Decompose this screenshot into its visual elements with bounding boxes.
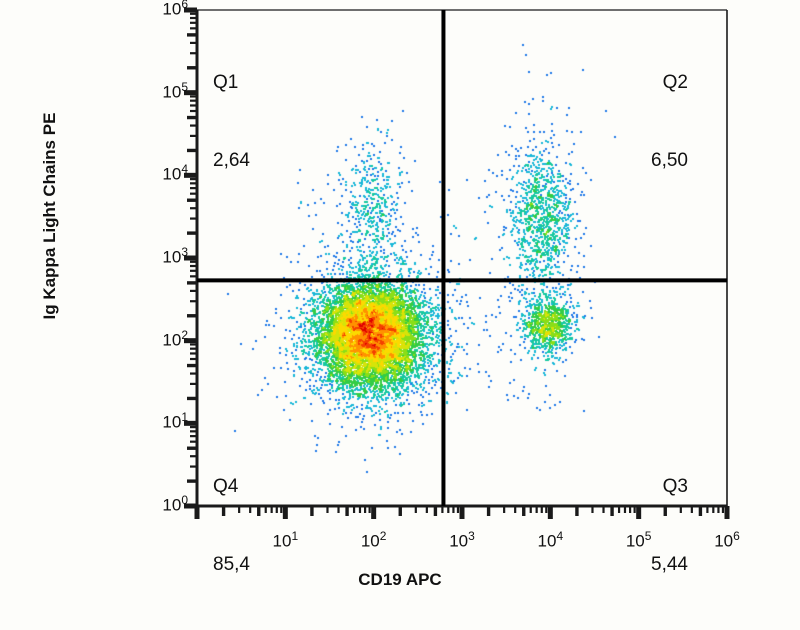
- y-tick-label-10e5: 105: [142, 80, 188, 103]
- quadrant-label-q2: Q2 6,50: [608, 18, 688, 226]
- x-tick-label-10e6: 106: [702, 529, 752, 552]
- y-tick-label-10e1: 101: [142, 410, 188, 433]
- x-tick-label-10e2: 102: [349, 529, 399, 552]
- y-tick-label-10e6: 106: [142, 0, 188, 20]
- quadrant-q2-name: Q2: [608, 70, 688, 96]
- quadrant-q1-value: 2,64: [213, 148, 250, 174]
- flow-cytometry-plot: Q1 2,64 Q2 6,50 Q3 5,44 Q4 85,4 CD19 APC…: [0, 0, 800, 600]
- quadrant-q4-name: Q4: [213, 474, 250, 500]
- y-axis-title: Ig Kappa Light Chains PE: [40, 46, 60, 386]
- x-axis-title: CD19 APC: [0, 570, 800, 590]
- y-tick-label-10e4: 104: [142, 162, 188, 185]
- y-tick-label-10e0: 100: [142, 493, 188, 516]
- y-tick-label-10e2: 102: [142, 328, 188, 351]
- quadrant-q2-value: 6,50: [608, 148, 688, 174]
- y-tick-label-10e3: 103: [142, 245, 188, 268]
- quadrant-label-q4: Q4 85,4: [213, 422, 250, 630]
- quadrant-q1-name: Q1: [213, 70, 250, 96]
- quadrant-label-q3: Q3 5,44: [608, 422, 688, 630]
- x-tick-label-10e4: 104: [525, 529, 575, 552]
- quadrant-label-q1: Q1 2,64: [213, 18, 250, 226]
- quadrant-q3-name: Q3: [608, 474, 688, 500]
- x-tick-label-10e1: 101: [260, 529, 310, 552]
- x-tick-label-10e3: 103: [437, 529, 487, 552]
- x-tick-label-10e5: 105: [614, 529, 664, 552]
